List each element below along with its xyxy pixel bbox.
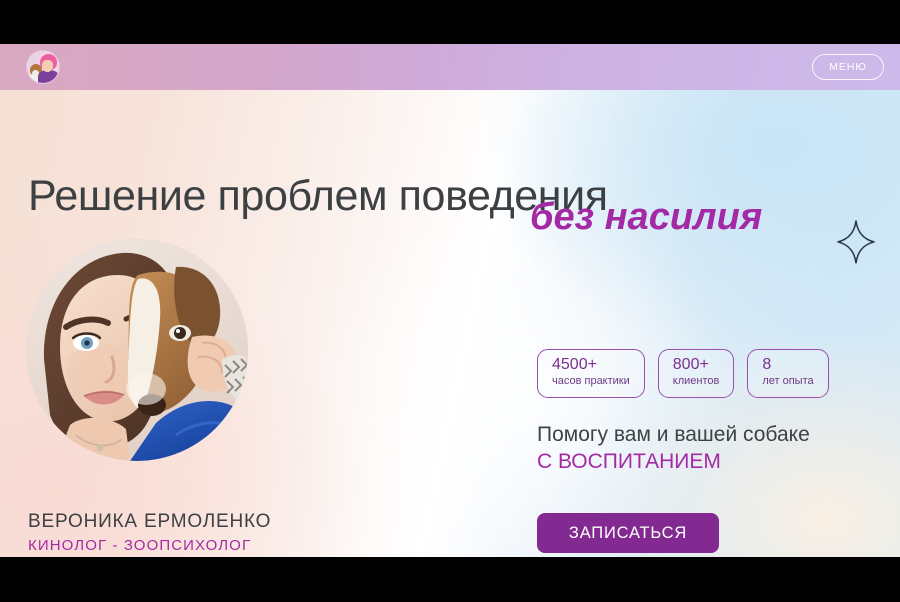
stat-value: 8: [762, 357, 813, 374]
stat-chip-hours: 4500+ часов практики: [537, 349, 645, 398]
person-name: ВЕРОНИКА ЕРМОЛЕНКО: [28, 509, 271, 535]
hero-pitch: Помогу вам и вашей собаке С ВОСПИТАНИЕМ: [537, 422, 810, 476]
logo-face-shape: [42, 60, 53, 72]
hero-headline-accent: без насилия: [530, 198, 762, 236]
stat-value: 800+: [673, 357, 720, 374]
stat-value: 4500+: [552, 357, 630, 374]
stat-label: клиентов: [673, 375, 720, 389]
portrait-photo: [26, 239, 248, 461]
signup-button-label: ЗАПИСАТЬСЯ: [569, 524, 687, 543]
signup-button[interactable]: ЗАПИСАТЬСЯ: [537, 513, 719, 553]
hero-headline: Решение проблем поведения: [28, 175, 608, 218]
menu-button[interactable]: МЕНЮ: [812, 54, 884, 80]
brand-logo-icon[interactable]: [27, 51, 59, 83]
site-header: МЕНЮ: [0, 44, 900, 90]
stat-label: часов практики: [552, 375, 630, 389]
letterbox-top: [0, 0, 900, 44]
pitch-line-1: Помогу вам и вашей собаке: [537, 422, 810, 449]
person-signature: ВЕРОНИКА ЕРМОЛЕНКО КИНОЛОГ - ЗООПСИХОЛОГ: [28, 509, 271, 556]
four-point-star-icon: [829, 216, 883, 270]
screenshot-canvas: МЕНЮ Решение проблем поведения без насил…: [0, 0, 900, 602]
letterbox-bottom: [0, 557, 900, 602]
stat-chip-clients: 800+ клиентов: [658, 349, 735, 398]
person-role: КИНОЛОГ - ЗООПСИХОЛОГ: [28, 535, 271, 557]
page-content: МЕНЮ Решение проблем поведения без насил…: [0, 44, 900, 557]
logo-body-shape: [38, 70, 59, 83]
stat-chip-experience: 8 лет опыта: [747, 349, 828, 398]
stats-row: 4500+ часов практики 800+ клиентов 8 лет…: [537, 349, 829, 398]
stat-label: лет опыта: [762, 375, 813, 389]
menu-button-label: МЕНЮ: [829, 61, 867, 73]
pitch-line-2: С ВОСПИТАНИЕМ: [537, 449, 810, 476]
hero-section: Решение проблем поведения без насилия: [0, 90, 900, 557]
